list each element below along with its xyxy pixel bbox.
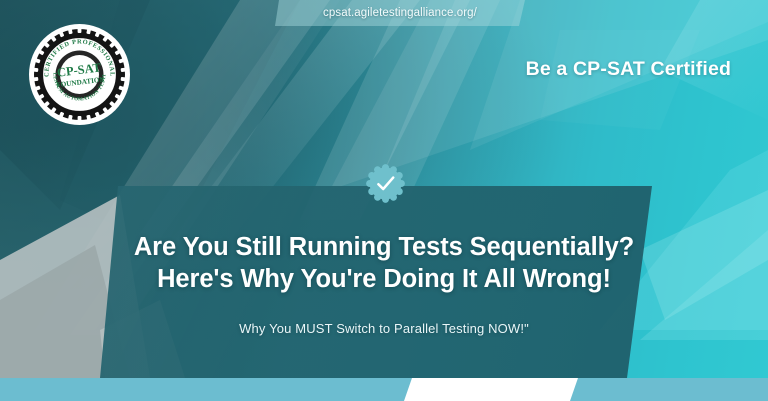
cp-sat-foundation-seal-logo: CERTIFIED PROFESSIONAL SELENIUM AUTOMATI… [28, 23, 131, 126]
main-headline-line-1: Are You Still Running Tests Sequentially… [0, 231, 768, 263]
subtitle: Why You MUST Switch to Parallel Testing … [0, 321, 768, 336]
main-headline-line-2: Here's Why You're Doing It All Wrong! [0, 263, 768, 295]
bottom-bar [0, 378, 768, 401]
promo-banner: cpsat.agiletestingalliance.org/ [0, 0, 768, 401]
site-url: cpsat.agiletestingalliance.org/ [275, 0, 525, 26]
top-right-headline: Be a CP-SAT Certified [526, 58, 731, 81]
main-headline: Are You Still Running Tests Sequentially… [0, 231, 768, 295]
check-badge-icon [366, 164, 405, 203]
